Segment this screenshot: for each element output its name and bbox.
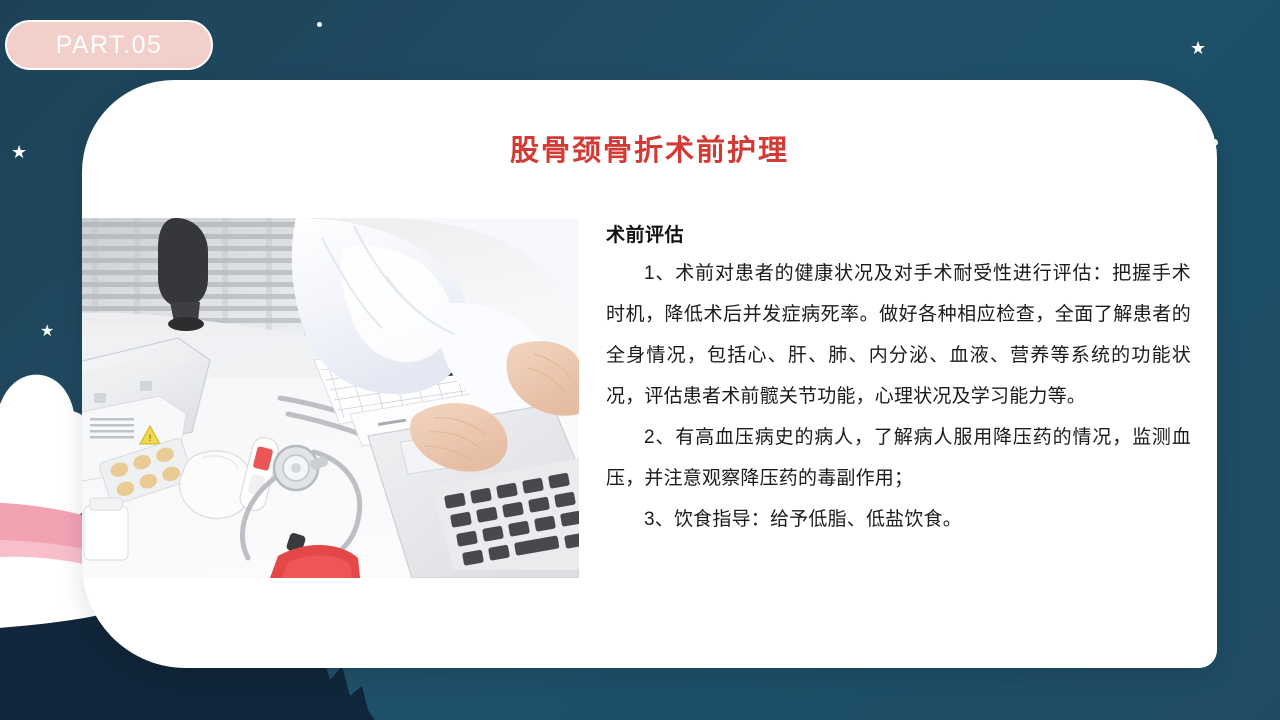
dot-decoration-icon [317, 22, 322, 27]
doctor-desk-photo: ! [82, 218, 579, 578]
part-badge: PART.05 [5, 20, 213, 70]
section-heading: 术前评估 [606, 220, 1191, 247]
paragraph-2: 2、有高血压病史的病人，了解病人服用降压药的情况，监测血压，并注意观察降压药的毒… [606, 417, 1191, 499]
content-card: 股骨颈骨折术前护理 [82, 80, 1217, 668]
slide-root: ★ ★ ★ PART.05 股骨颈骨折术前护理 [0, 0, 1280, 720]
star-icon: ★ [11, 143, 27, 161]
body-content: 术前评估 1、术前对患者的健康状况及对手术耐受性进行评估：把握手术时机，降低术后… [606, 220, 1191, 540]
paragraph-1: 1、术前对患者的健康状况及对手术耐受性进行评估：把握手术时机，降低术后并发症病死… [606, 253, 1191, 417]
dot-decoration-icon [59, 597, 67, 605]
part-badge-label: PART.05 [56, 31, 163, 60]
star-icon: ★ [40, 324, 54, 340]
paragraph-3: 3、饮食指导：给予低脂、低盐饮食。 [606, 499, 1191, 540]
star-icon: ★ [1190, 39, 1206, 57]
page-title: 股骨颈骨折术前护理 [82, 127, 1217, 169]
